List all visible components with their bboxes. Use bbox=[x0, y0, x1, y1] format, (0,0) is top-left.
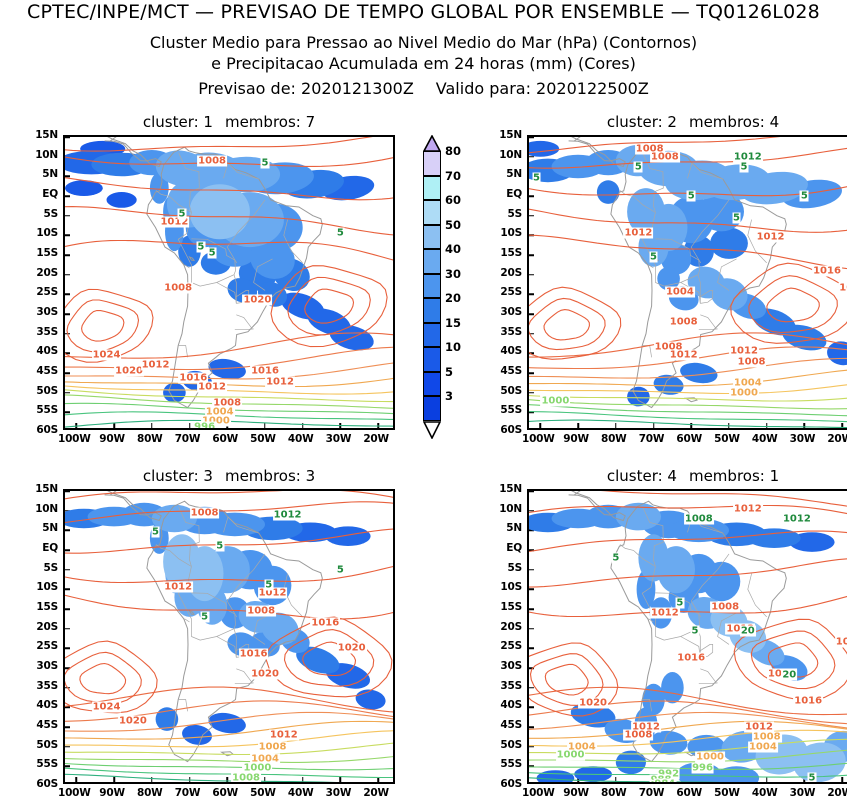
isohyet-value-label: 5 bbox=[634, 161, 643, 172]
map-graphic bbox=[65, 137, 395, 430]
y-axis-label: 25S bbox=[500, 286, 522, 298]
contour-value-label: 1016 bbox=[676, 653, 706, 664]
forecast-valid-label: Valido para: 2020122500Z bbox=[436, 79, 649, 98]
x-axis-label: 90W bbox=[99, 433, 125, 445]
isohyet-value-label: 5 bbox=[800, 191, 809, 202]
contour-value-label: 102 bbox=[838, 283, 847, 294]
x-axis-label: 100W bbox=[522, 433, 555, 445]
colorbar-band bbox=[423, 298, 441, 323]
contour-value-label: 20 bbox=[740, 625, 756, 636]
contour-value-label: 1024 bbox=[92, 350, 122, 361]
colorbar-band bbox=[423, 347, 441, 372]
y-axis-label: 30S bbox=[36, 660, 58, 672]
contour-value-label: 1012 bbox=[269, 729, 299, 740]
country-border bbox=[236, 315, 252, 329]
contour-value-label: 1012 bbox=[265, 377, 295, 388]
x-axis-label: 20W bbox=[363, 433, 389, 445]
y-axis-label: EQ bbox=[42, 542, 58, 554]
contour-value-label: 1020 bbox=[835, 637, 847, 648]
forecast-init-label: Previsao de: 2020121300Z bbox=[198, 79, 414, 98]
pressure-contour bbox=[65, 743, 395, 755]
x-axis-label: 90W bbox=[99, 787, 125, 799]
colorbar-min-arrow bbox=[423, 421, 441, 437]
contour-value-label: 996 bbox=[691, 763, 714, 774]
pressure-contour bbox=[529, 420, 847, 428]
contour-value-label: 1012 bbox=[669, 350, 699, 361]
y-axis-label: 25S bbox=[36, 640, 58, 652]
y-axis-label: 10S bbox=[500, 227, 522, 239]
colorbar-tick-label: 40 bbox=[445, 242, 461, 256]
y-axis-label: 35S bbox=[36, 680, 58, 692]
colorbar-band bbox=[423, 249, 441, 274]
x-axis-label: 20W bbox=[363, 787, 389, 799]
cluster-label: cluster: 4 bbox=[607, 467, 677, 485]
y-axis-label: 40S bbox=[36, 699, 58, 711]
y-axis-label: 40S bbox=[500, 345, 522, 357]
precip-shading bbox=[657, 546, 695, 593]
isohyet-value-label: 5 bbox=[808, 773, 817, 784]
contour-value-label: 1012 bbox=[756, 232, 786, 243]
precip-shading bbox=[537, 770, 575, 784]
y-axis-label: 35S bbox=[500, 680, 522, 692]
colorbar-tick-label: 10 bbox=[445, 340, 461, 354]
precip-shading bbox=[825, 339, 847, 367]
country-border bbox=[700, 315, 716, 329]
precip-shading bbox=[107, 192, 137, 208]
contour-value-label: 1000 bbox=[540, 395, 570, 406]
y-axis-label: 10N bbox=[499, 149, 522, 161]
colorbar-band bbox=[423, 176, 441, 201]
precip-shading bbox=[748, 528, 801, 548]
y-axis-label: 60S bbox=[500, 424, 522, 436]
plot-area-3[interactable]: 1008101210121012100810161020101610201024… bbox=[63, 489, 395, 784]
y-axis-label: 5N bbox=[42, 168, 58, 180]
contour-value-label: 1004 bbox=[748, 741, 778, 752]
y-axis-label: EQ bbox=[42, 188, 58, 200]
contour-value-label: 1008 bbox=[258, 741, 288, 752]
precip-shading bbox=[703, 562, 741, 601]
y-axis-label: 5N bbox=[506, 168, 522, 180]
contour-value-label: 1008 bbox=[190, 507, 220, 518]
panel-title-1: cluster: 1membros: 7 bbox=[63, 113, 395, 131]
pressure-contour bbox=[65, 386, 395, 394]
y-axis-label: 15N bbox=[499, 483, 522, 495]
contour-value-label: 1020 bbox=[242, 295, 272, 306]
cluster-label: cluster: 3 bbox=[143, 467, 213, 485]
contour-value-label: 1008 bbox=[669, 316, 699, 327]
y-axis-label: 35S bbox=[500, 326, 522, 338]
pressure-contour bbox=[529, 405, 847, 416]
y-axis-label: 45S bbox=[500, 719, 522, 731]
pressure-contour bbox=[65, 756, 395, 762]
country-border bbox=[642, 346, 651, 358]
contour-value-label: 1008 bbox=[623, 729, 653, 740]
y-axis-label: 25S bbox=[36, 286, 58, 298]
contour-value-label: 1008 bbox=[650, 151, 680, 162]
x-axis-label: 50W bbox=[250, 433, 276, 445]
isohyet-value-label: 5 bbox=[200, 611, 209, 622]
colorbar-tick-label: 60 bbox=[445, 193, 461, 207]
x-axis-label: 70W bbox=[175, 433, 201, 445]
x-axis-label: 100W bbox=[58, 433, 91, 445]
contour-value-label: 1012 bbox=[163, 582, 193, 593]
y-axis-label: 30S bbox=[500, 306, 522, 318]
isohyet-value-label: 5 bbox=[691, 625, 700, 636]
precip-shading bbox=[627, 387, 650, 407]
y-axis-label: 5S bbox=[508, 562, 522, 574]
x-axis-label: 40W bbox=[752, 433, 778, 445]
colorbar-band bbox=[423, 151, 441, 176]
y-axis-label: 15S bbox=[36, 601, 58, 613]
contour-value-label: 1016 bbox=[250, 366, 280, 377]
contour-value-label: 1004 bbox=[665, 287, 695, 298]
map-graphic bbox=[529, 491, 847, 784]
contour-value-label: 1008 bbox=[710, 602, 740, 613]
panel-title-2: cluster: 2membros: 4 bbox=[527, 113, 847, 131]
contour-value-label: 1020 bbox=[118, 716, 148, 727]
subtitle-contours: Cluster Medio para Pressao ao Nivel Medi… bbox=[0, 32, 847, 53]
isohyet-value-label: 5 bbox=[675, 598, 684, 609]
y-axis-label: 10S bbox=[36, 581, 58, 593]
country-border bbox=[699, 683, 718, 684]
y-axis-label: 60S bbox=[36, 778, 58, 790]
colorbar-tick-label: 80 bbox=[445, 144, 461, 158]
y-axis-label: 55S bbox=[36, 404, 58, 416]
precip-shading bbox=[597, 180, 620, 204]
y-axis-label: 55S bbox=[500, 758, 522, 770]
isohyet-value-label: 5 bbox=[649, 252, 658, 263]
y-axis-label: 50S bbox=[500, 739, 522, 751]
x-axis-label: 70W bbox=[639, 433, 665, 445]
y-axis-label: 35S bbox=[36, 326, 58, 338]
precip-shading bbox=[180, 723, 213, 748]
members-label: membros: 3 bbox=[225, 467, 315, 485]
subtitle-colors: e Precipitacao Acumulada em 24 horas (mm… bbox=[0, 53, 847, 74]
y-axis-label: 10N bbox=[35, 149, 58, 161]
contour-value-label: 1016 bbox=[239, 649, 269, 660]
page-title: CPTEC/INPE/MCT — PREVISAO DE TEMPO GLOBA… bbox=[0, 0, 847, 24]
y-axis-label: 5S bbox=[508, 208, 522, 220]
x-axis-label: 40W bbox=[288, 433, 314, 445]
contour-value-label: 984 bbox=[653, 779, 676, 784]
y-axis-label: 20S bbox=[36, 267, 58, 279]
map-panel-cluster-4[interactable]: cluster: 4membros: 1 1012101210081008101… bbox=[527, 489, 847, 784]
x-axis-label: 100W bbox=[58, 787, 91, 799]
contour-value-label: 1012 bbox=[733, 503, 763, 514]
country-border bbox=[748, 574, 767, 617]
y-axis-label: 15S bbox=[500, 601, 522, 613]
y-axis-label: 30S bbox=[500, 660, 522, 672]
plot-area-1[interactable]: 1008101210081020102410201012101610121016… bbox=[63, 135, 395, 430]
y-axis-label: 45S bbox=[36, 365, 58, 377]
x-axis-label: 50W bbox=[714, 787, 740, 799]
isohyet-value-label: 5 bbox=[196, 242, 205, 253]
contour-value-label: 1008 bbox=[684, 513, 714, 524]
colorbar-tick-label: 30 bbox=[445, 267, 461, 281]
contour-value-label: 1020 bbox=[114, 366, 144, 377]
contour-value-label: 1020 bbox=[578, 698, 608, 709]
contour-value-label: 1012 bbox=[197, 381, 227, 392]
contour-value-label: 996 bbox=[193, 422, 216, 430]
x-axis-label: 30W bbox=[790, 787, 816, 799]
colorbar-max-arrow bbox=[423, 135, 441, 151]
isohyet-value-label: 5 bbox=[151, 527, 160, 538]
y-axis-label: 5S bbox=[44, 208, 58, 220]
precip-shading bbox=[190, 184, 250, 239]
x-axis-label: 30W bbox=[326, 433, 352, 445]
y-axis-label: 45S bbox=[36, 719, 58, 731]
y-axis-label: 40S bbox=[36, 345, 58, 357]
contour-value-label: 1012 bbox=[273, 509, 303, 520]
x-axis-label: 60W bbox=[676, 433, 702, 445]
isohyet-value-label: 5 bbox=[336, 228, 345, 239]
contour-value-label: 1000 bbox=[695, 751, 725, 762]
contour-value-label: 1008 bbox=[231, 773, 261, 784]
precip-shading bbox=[710, 228, 748, 259]
colorbar-band bbox=[423, 274, 441, 299]
members-label: membros: 1 bbox=[689, 467, 779, 485]
x-axis-label: 60W bbox=[212, 787, 238, 799]
y-axis-label: 10N bbox=[499, 503, 522, 515]
isohyet-value-label: 5 bbox=[261, 157, 270, 168]
precip-shading bbox=[325, 526, 370, 546]
contour-value-label: 1012 bbox=[782, 513, 812, 524]
x-axis-label: 50W bbox=[714, 433, 740, 445]
colorbar-tick-label: 50 bbox=[445, 218, 461, 232]
y-axis-label: 5N bbox=[42, 522, 58, 534]
contour-value-label: 1008 bbox=[246, 606, 276, 617]
x-axis-label: 90W bbox=[563, 787, 589, 799]
contour-value-label: 1016 bbox=[793, 696, 823, 707]
map-graphic bbox=[65, 491, 395, 784]
y-axis-label: 10N bbox=[35, 503, 58, 515]
contour-value-label: 1020 bbox=[250, 668, 280, 679]
x-axis-label: 90W bbox=[563, 433, 589, 445]
colorbar-band bbox=[423, 372, 441, 397]
pressure-contour bbox=[529, 298, 605, 349]
cluster-label: cluster: 2 bbox=[607, 113, 677, 131]
isohyet-value-label: 5 bbox=[740, 161, 749, 172]
x-axis-label: 80W bbox=[137, 787, 163, 799]
x-axis-label: 60W bbox=[212, 433, 238, 445]
y-axis-label: 10S bbox=[500, 581, 522, 593]
country-border bbox=[699, 329, 718, 330]
pressure-contour bbox=[65, 652, 141, 703]
members-label: membros: 4 bbox=[689, 113, 779, 131]
colorbar-tick-label: 3 bbox=[445, 389, 453, 403]
country-border bbox=[235, 329, 254, 330]
y-axis-label: 50S bbox=[500, 385, 522, 397]
isohyet-value-label: 5 bbox=[215, 541, 224, 552]
x-axis-label: 80W bbox=[601, 433, 627, 445]
colorbar-tick-label: 20 bbox=[445, 291, 461, 305]
isohyet-value-label: 5 bbox=[687, 191, 696, 202]
x-axis-label: 40W bbox=[288, 787, 314, 799]
pressure-contour bbox=[67, 300, 139, 352]
x-axis-label: 80W bbox=[601, 787, 627, 799]
pressure-contour bbox=[82, 311, 124, 342]
y-axis-label: 10S bbox=[36, 227, 58, 239]
colorbar-band bbox=[423, 396, 441, 421]
x-axis-label: 30W bbox=[790, 433, 816, 445]
isohyet-value-label: 5 bbox=[336, 564, 345, 575]
y-axis-label: 55S bbox=[36, 758, 58, 770]
pressure-contour bbox=[545, 664, 588, 695]
x-axis-label: 80W bbox=[137, 433, 163, 445]
contour-value-label: 1000 bbox=[729, 387, 759, 398]
isohyet-value-label: 5 bbox=[208, 248, 217, 259]
pressure-contour bbox=[80, 664, 126, 694]
y-axis-label: 30S bbox=[36, 306, 58, 318]
country-border bbox=[700, 669, 716, 683]
map-panel-cluster-2[interactable]: cluster: 2membros: 4 1008100810121012101… bbox=[527, 135, 847, 430]
y-axis-label: 55S bbox=[500, 404, 522, 416]
contour-value-label: 1012 bbox=[623, 228, 653, 239]
contour-value-label: 1008 bbox=[737, 357, 767, 368]
y-axis-label: 45S bbox=[500, 365, 522, 377]
y-axis-label: EQ bbox=[506, 188, 522, 200]
y-axis-label: 5S bbox=[44, 562, 58, 574]
y-axis-label: 60S bbox=[36, 424, 58, 436]
country-border bbox=[178, 346, 187, 358]
y-axis-label: 15N bbox=[499, 129, 522, 141]
plot-area-4[interactable]: 1012101210081008101210122010201016101620… bbox=[527, 489, 847, 784]
members-label: membros: 7 bbox=[225, 113, 315, 131]
contour-value-label: 1016 bbox=[812, 265, 842, 276]
y-axis-label: 50S bbox=[36, 739, 58, 751]
forecast-dates: Previsao de: 2020121300ZValido para: 202… bbox=[0, 78, 847, 100]
pressure-contour bbox=[544, 310, 589, 340]
y-axis-label: 15N bbox=[35, 483, 58, 495]
contour-value-label: 1012 bbox=[141, 360, 171, 371]
colorbar-tick-label: 15 bbox=[445, 316, 461, 330]
colorbar-tick-label: 70 bbox=[445, 169, 461, 183]
y-axis-label: 25S bbox=[500, 640, 522, 652]
plot-area-2[interactable]: 1008100810121012101210161021004100810081… bbox=[527, 135, 847, 430]
x-axis-label: 70W bbox=[639, 787, 665, 799]
panel-title-3: cluster: 3membros: 3 bbox=[63, 467, 395, 485]
y-axis-label: 20S bbox=[500, 267, 522, 279]
contour-value-label: 1012 bbox=[650, 607, 680, 618]
map-panel-cluster-1[interactable]: cluster: 1membros: 7 1008101210081020102… bbox=[63, 135, 395, 430]
contour-value-label: 1020 bbox=[337, 643, 367, 654]
contour-value-label: 1008 bbox=[163, 283, 193, 294]
y-axis-label: 40S bbox=[500, 699, 522, 711]
x-axis-label: 30W bbox=[326, 787, 352, 799]
pressure-contour bbox=[529, 287, 621, 359]
colorbar-band bbox=[423, 225, 441, 250]
contour-value-label: 20 bbox=[781, 670, 797, 681]
pressure-contour bbox=[65, 774, 395, 784]
y-axis-label: EQ bbox=[506, 542, 522, 554]
isohyet-value-label: 5 bbox=[532, 173, 541, 184]
map-panel-cluster-3[interactable]: cluster: 3membros: 3 1008101210121012100… bbox=[63, 489, 395, 784]
contour-value-label: 1016 bbox=[310, 617, 340, 628]
isohyet-value-label: 5 bbox=[178, 208, 187, 219]
contour-value-label: 1024 bbox=[92, 702, 122, 713]
panel-title-4: cluster: 4membros: 1 bbox=[527, 467, 847, 485]
y-axis-label: 20S bbox=[36, 621, 58, 633]
y-axis-label: 15S bbox=[500, 247, 522, 259]
isohyet-value-label: 5 bbox=[611, 552, 620, 563]
x-axis-label: 20W bbox=[827, 787, 847, 799]
contour-value-label: 1012 bbox=[729, 346, 759, 357]
precip-shading bbox=[529, 141, 559, 157]
x-axis-label: 50W bbox=[250, 787, 276, 799]
country-border bbox=[235, 683, 254, 684]
y-axis-label: 20S bbox=[500, 621, 522, 633]
precipitation-colorbar: 80706050403020151053 bbox=[423, 135, 443, 437]
map-graphic bbox=[529, 137, 847, 430]
pressure-contour bbox=[65, 764, 395, 770]
y-axis-label: 50S bbox=[36, 385, 58, 397]
x-axis-label: 100W bbox=[522, 787, 555, 799]
isohyet-value-label: 5 bbox=[732, 212, 741, 223]
x-axis-label: 20W bbox=[827, 433, 847, 445]
colorbar-band bbox=[423, 200, 441, 225]
y-axis-label: 60S bbox=[500, 778, 522, 790]
x-axis-label: 60W bbox=[676, 787, 702, 799]
pressure-contour bbox=[529, 383, 847, 394]
colorbar-band bbox=[423, 323, 441, 348]
colorbar-tick-label: 5 bbox=[445, 365, 453, 379]
contour-value-label: 1008 bbox=[197, 156, 227, 167]
contour-value-label: 1000 bbox=[556, 749, 586, 760]
cluster-label: cluster: 1 bbox=[143, 113, 213, 131]
y-axis-label: 15S bbox=[36, 247, 58, 259]
y-axis-label: 5N bbox=[506, 522, 522, 534]
isohyet-value-label: 5 bbox=[264, 580, 273, 591]
x-axis-label: 70W bbox=[175, 787, 201, 799]
x-axis-label: 40W bbox=[752, 787, 778, 799]
chart-header: CPTEC/INPE/MCT — PREVISAO DE TEMPO GLOBA… bbox=[0, 0, 847, 100]
y-axis-label: 15N bbox=[35, 129, 58, 141]
